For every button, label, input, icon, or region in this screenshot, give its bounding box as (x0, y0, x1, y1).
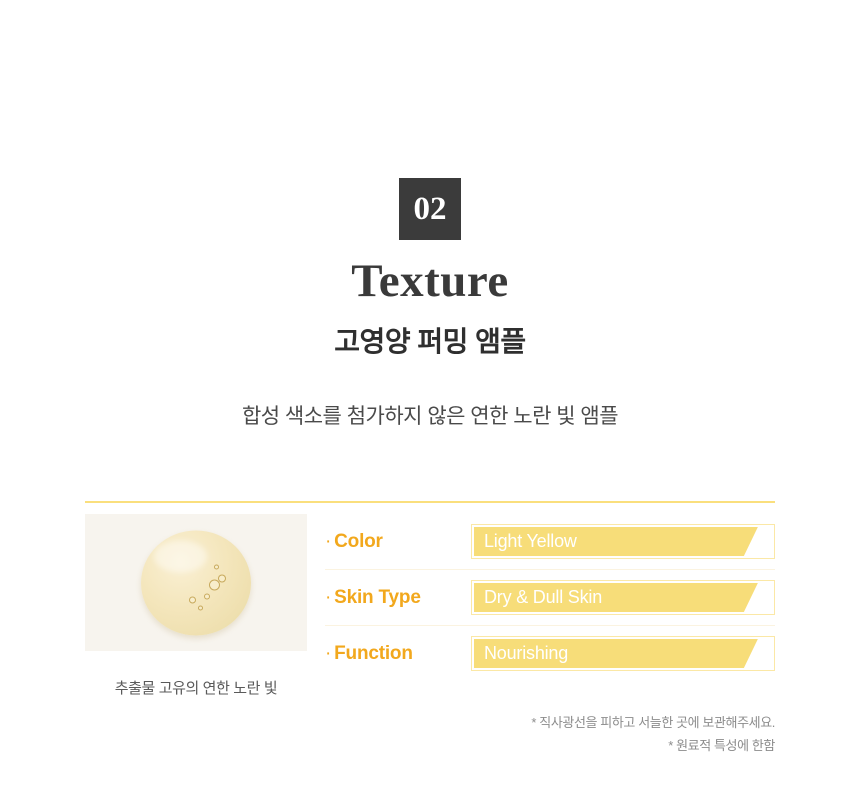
bullet-icon: · (325, 587, 331, 608)
spec-label-skin-type: ·Skin Type (325, 587, 471, 609)
bubble-icon (189, 596, 196, 603)
specification-rows: ·Color Light Yellow ·Skin Type Dry & Dul… (325, 514, 775, 681)
table-row: ·Color Light Yellow (325, 514, 775, 569)
product-photo (85, 514, 307, 651)
texture-section-page: 02 Texture 고영양 퍼밍 앰플 합성 색소를 첨가하지 않은 연한 노… (0, 0, 860, 794)
spec-value-bar-function: Nourishing (471, 636, 775, 671)
serum-drop-icon (141, 530, 251, 635)
bubble-icon (214, 565, 219, 570)
table-row: ·Skin Type Dry & Dull Skin (325, 569, 775, 625)
spec-label-text: Skin Type (334, 587, 421, 608)
step-number-badge: 02 (399, 178, 461, 240)
section-description: 합성 색소를 첨가하지 않은 연한 노란 빛 앰플 (0, 400, 860, 430)
specification-body: 추출물 고유의 연한 노란 빛 ·Color Light Yellow ·Ski… (85, 514, 775, 698)
spec-label-text: Color (334, 531, 383, 552)
spec-value-text: Dry & Dull Skin (484, 581, 602, 614)
footnote-ingredient: * 원료적 특성에 한함 (531, 735, 775, 758)
spec-value-bar-color: Light Yellow (471, 524, 775, 559)
footnote-group: * 직사광선을 피하고 서늘한 곳에 보관해주세요. * 원료적 특성에 한함 (531, 712, 775, 758)
spec-value-bar-skin-type: Dry & Dull Skin (471, 580, 775, 615)
spec-label-function: ·Function (325, 643, 471, 665)
specification-section: 추출물 고유의 연한 노란 빛 ·Color Light Yellow ·Ski… (85, 501, 775, 698)
section-subtitle: 고영양 퍼밍 앰플 (0, 320, 860, 360)
bubble-icon (204, 593, 210, 599)
page-title: Texture (0, 257, 860, 306)
table-row: ·Function Nourishing (325, 625, 775, 681)
spec-label-text: Function (334, 643, 413, 664)
product-photo-caption: 추출물 고유의 연한 노란 빛 (85, 677, 307, 698)
footnote-storage: * 직사광선을 피하고 서늘한 곳에 보관해주세요. (531, 712, 775, 735)
bubble-icon (218, 574, 226, 582)
product-photo-column: 추출물 고유의 연한 노란 빛 (85, 514, 307, 698)
bullet-icon: · (325, 643, 331, 664)
top-divider (85, 501, 775, 503)
section-header: 02 Texture 고영양 퍼밍 앰플 합성 색소를 첨가하지 않은 연한 노… (0, 0, 860, 430)
spec-value-text: Nourishing (484, 637, 568, 670)
bubble-icon (198, 606, 203, 611)
spec-value-text: Light Yellow (484, 525, 577, 558)
spec-label-color: ·Color (325, 531, 471, 553)
bullet-icon: · (325, 531, 331, 552)
